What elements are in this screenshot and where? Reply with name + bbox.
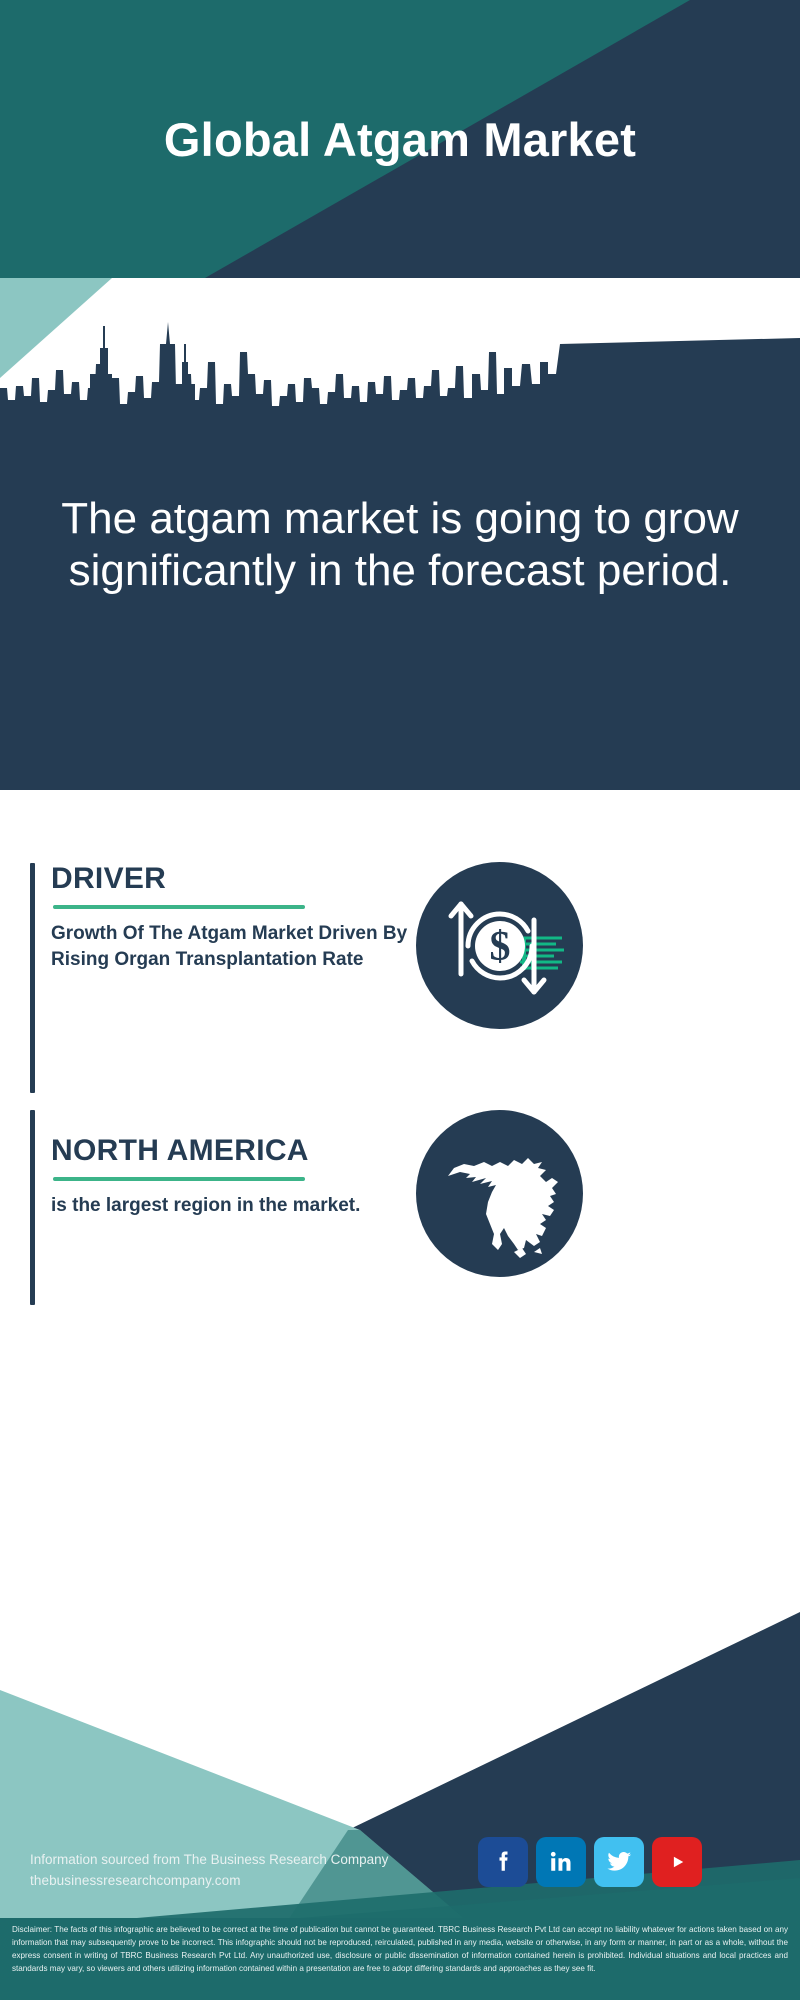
- insight-driver-subtext: Growth Of The Atgam Market Driven By Ris…: [51, 921, 446, 975]
- insight-region-heading: NORTH AMERICA: [51, 1110, 446, 1167]
- insight-region-body: NORTH AMERICA is the largest region in t…: [35, 1110, 446, 1219]
- page-title: Global Atgam Market: [0, 0, 800, 278]
- disclaimer-text: Disclaimer: The facts of this infographi…: [12, 1923, 788, 1975]
- footer-website: thebusinessresearchcompany.com: [30, 1871, 388, 1892]
- twitter-glyph: [603, 1846, 635, 1878]
- twitter-icon[interactable]: [594, 1837, 644, 1887]
- youtube-icon[interactable]: [652, 1837, 702, 1887]
- infographic-page: Global Atgam Market The atgam market is …: [0, 0, 800, 2000]
- hero-band: The atgam market is going to grow signif…: [0, 278, 800, 790]
- dollar-growth-icon: $: [416, 862, 583, 1029]
- footer-source: Information sourced from The Business Re…: [30, 1850, 388, 1892]
- insight-region: NORTH AMERICA is the largest region in t…: [30, 1110, 446, 1305]
- insights-section: DRIVER Growth Of The Atgam Market Driven…: [0, 790, 800, 1530]
- insight-driver: DRIVER Growth Of The Atgam Market Driven…: [30, 863, 446, 1093]
- linkedin-icon[interactable]: [536, 1837, 586, 1887]
- linkedin-glyph: [546, 1847, 576, 1877]
- hero-statement: The atgam market is going to grow signif…: [60, 493, 740, 597]
- disclaimer-bar: Disclaimer: The facts of this infographi…: [0, 1918, 800, 2000]
- insight-region-underline: [53, 1177, 305, 1181]
- facebook-icon[interactable]: [478, 1837, 528, 1887]
- insight-driver-body: DRIVER Growth Of The Atgam Market Driven…: [35, 863, 446, 974]
- north-america-map-icon: [416, 1110, 583, 1277]
- north-america-map-glyph: [430, 1124, 570, 1264]
- youtube-glyph: [662, 1847, 692, 1877]
- social-links: [478, 1837, 702, 1887]
- insight-region-subtext: is the largest region in the market.: [51, 1193, 446, 1220]
- insight-driver-underline: [53, 905, 305, 909]
- footer-source-line: Information sourced from The Business Re…: [30, 1850, 388, 1871]
- insight-driver-heading: DRIVER: [51, 863, 446, 895]
- svg-text:$: $: [489, 924, 510, 970]
- facebook-glyph: [488, 1847, 518, 1877]
- header-banner: Global Atgam Market: [0, 0, 800, 278]
- dollar-growth-glyph: $: [434, 880, 566, 1012]
